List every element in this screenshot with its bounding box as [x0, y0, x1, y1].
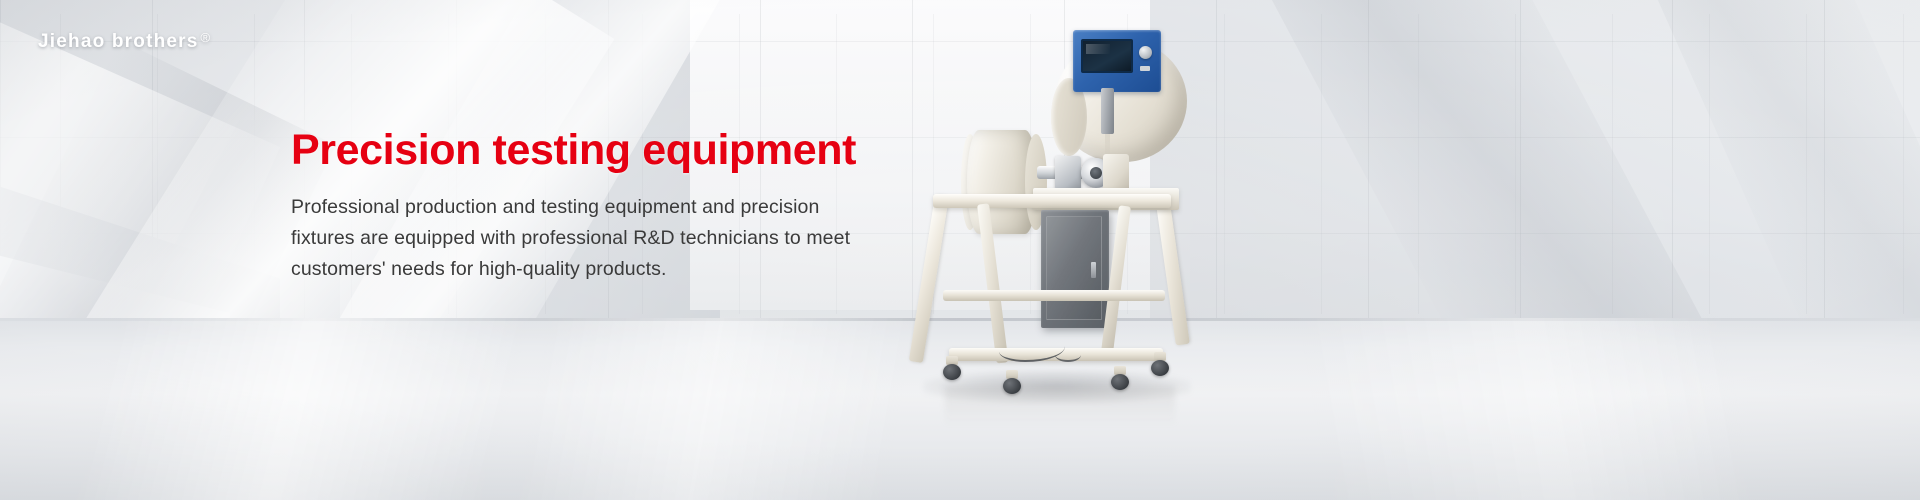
clamp-block	[1055, 156, 1081, 190]
hero-copy-block: Precision testing equipment Professional…	[291, 126, 891, 285]
brand-logo: Jiehao brothers ®	[38, 30, 210, 54]
product-floor-reflection	[945, 386, 1175, 432]
hero-description-line-2: fixtures are equipped with professional …	[291, 223, 891, 254]
electrical-cabinet	[1041, 210, 1109, 328]
cabinet-latch-icon	[1091, 262, 1096, 278]
caster-rear-left	[943, 356, 961, 380]
hero-description-line-3: customers' needs for high-quality produc…	[291, 254, 891, 285]
hero-headline: Precision testing equipment	[291, 126, 891, 174]
control-panel-stem	[1101, 88, 1114, 134]
brand-logo-text: Jiehao brothers	[38, 30, 199, 54]
hero-description-line-1: Professional production and testing equi…	[291, 192, 891, 223]
caster-front-left	[1003, 370, 1021, 394]
control-panel	[1073, 30, 1161, 92]
frame-leg-rear-left	[909, 195, 949, 363]
registered-trademark-icon: ®	[201, 31, 211, 44]
control-knob-icon	[1139, 46, 1152, 59]
hero-description: Professional production and testing equi…	[291, 192, 891, 285]
control-panel-screen	[1081, 39, 1133, 73]
caster-front-right	[1111, 366, 1129, 390]
hero-banner: Jiehao brothers ® Precision testing equi…	[0, 0, 1920, 500]
product-image	[905, 18, 1245, 400]
power-cord-segment	[1055, 348, 1081, 362]
frame-middle-rail	[943, 290, 1165, 301]
frame-leg-rear-right	[1155, 195, 1190, 345]
caster-rear-right	[1151, 352, 1169, 376]
frame-top-rail	[933, 194, 1171, 208]
control-button-icon	[1140, 66, 1150, 71]
